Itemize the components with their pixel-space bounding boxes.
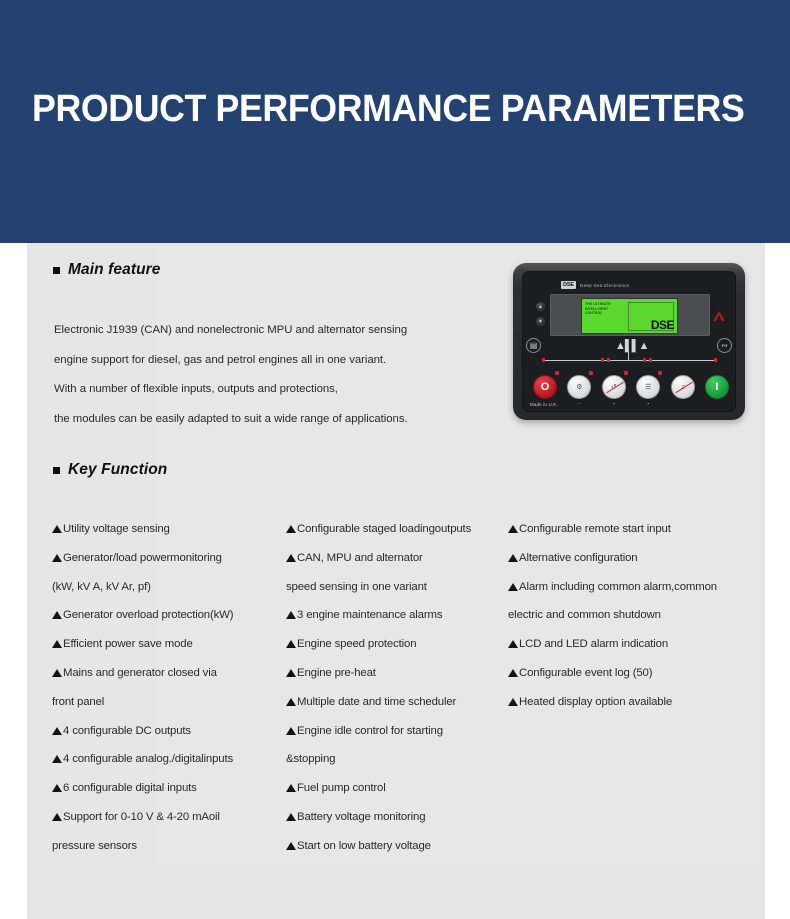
generator-icon: ∾ xyxy=(717,338,732,353)
auto-mode-button[interactable]: ↺ ▪ xyxy=(602,375,626,399)
mimic-led xyxy=(649,358,652,362)
key-function-item-label: Configurable remote start input xyxy=(519,515,671,544)
triangle-bullet-icon xyxy=(286,525,296,533)
made-in-label: Made in U.K. xyxy=(530,402,558,407)
triangle-bullet-icon xyxy=(52,554,62,562)
key-function-item-label: pressure sensors xyxy=(52,832,137,861)
triangle-bullet-icon xyxy=(286,611,296,619)
key-function-item-label: LCD and LED alarm indication xyxy=(519,630,668,659)
triangle-bullet-icon xyxy=(508,583,518,591)
key-function-item: Support for 0-10 V & 4-20 mAoil xyxy=(52,803,286,832)
start-button-glyph: I xyxy=(715,381,718,393)
key-function-item: speed sensing in one variant xyxy=(286,573,508,602)
triangle-bullet-icon xyxy=(508,698,518,706)
key-function-item-label: Efficient power save mode xyxy=(63,630,193,659)
key-function-item-label: 4 configurable analog./digitalinputs xyxy=(63,745,233,774)
nav-down-button[interactable]: ▼ xyxy=(536,317,545,326)
triangle-bullet-icon xyxy=(52,611,62,619)
key-function-item: Alternative configuration xyxy=(508,544,742,573)
triangle-bullet-icon xyxy=(286,640,296,648)
triangle-bullet-icon xyxy=(52,755,62,763)
key-function-item: front panel xyxy=(52,688,286,717)
key-function-heading: Key Function xyxy=(53,461,167,479)
triangle-bullet-icon xyxy=(52,669,62,677)
warning-triangle-icon xyxy=(713,311,725,321)
key-function-list: Utility voltage sensingGenerator/load po… xyxy=(52,515,742,861)
controller-branding: DSE Deep Sea Electronics xyxy=(561,281,629,289)
triangle-bullet-icon xyxy=(286,698,296,706)
key-function-item-label: CAN, MPU and alternator xyxy=(297,544,423,573)
main-feature-heading: Main feature xyxy=(53,261,161,279)
key-function-item: electric and common shutdown xyxy=(508,601,742,630)
triangle-bullet-icon xyxy=(286,727,296,735)
key-function-item: LCD and LED alarm indication xyxy=(508,630,742,659)
key-function-item-label: Battery voltage monitoring xyxy=(297,803,425,832)
key-function-item-label: Engine idle control for starting xyxy=(297,717,443,746)
key-function-item: Heated display option available xyxy=(508,688,742,717)
triangle-bullet-icon xyxy=(286,813,296,821)
key-function-item: 4 configurable analog./digitalinputs xyxy=(52,745,286,774)
key-function-item-label: Engine pre-heat xyxy=(297,659,376,688)
key-function-item: 3 engine maintenance alarms xyxy=(286,601,508,630)
key-function-item: Start on low battery voltage xyxy=(286,832,508,861)
triangle-bullet-icon xyxy=(286,554,296,562)
key-function-item: (kW, kV A, kV Ar, pf) xyxy=(52,573,286,602)
key-function-item: Generator/load powermonitoring xyxy=(52,544,286,573)
dse-controller-photo: DSE Deep Sea Electronics ▲ ▼ THE ULTIMAT… xyxy=(513,263,745,420)
key-function-item-label: Alternative configuration xyxy=(519,544,637,573)
key-function-item-label: Configurable event log (50) xyxy=(519,659,652,688)
lcd-bezel: THE ULTIMATE INTELLIGENT CONTROL DSE xyxy=(550,294,710,336)
key-function-item-label: Generator overload protection(kW) xyxy=(63,601,233,630)
key-function-column-1: Utility voltage sensingGenerator/load po… xyxy=(52,515,286,861)
main-feature-paragraph: Electronic J1939 (CAN) and nonelectronic… xyxy=(54,316,484,434)
status-led-icon xyxy=(555,371,559,375)
lcd-line: THE ULTIMATE xyxy=(585,302,611,307)
manual-mode-sublabel: ─ xyxy=(578,401,581,406)
key-function-item: CAN, MPU and alternator xyxy=(286,544,508,573)
mains-supply-icon: ▤ xyxy=(526,338,541,353)
key-function-item: Engine speed protection xyxy=(286,630,508,659)
stop-button[interactable]: O xyxy=(533,375,557,399)
key-function-item: &stopping xyxy=(286,745,508,774)
brand-text: Deep Sea Electronics xyxy=(580,283,629,288)
status-led-icon xyxy=(589,371,593,375)
mute-alarm-button[interactable]: ♫ xyxy=(671,375,695,399)
dse-logo-icon: DSE xyxy=(561,281,576,289)
key-function-column-3: Configurable remote start inputAlternati… xyxy=(508,515,742,861)
triangle-bullet-icon xyxy=(52,727,62,735)
key-function-item-label: Fuel pump control xyxy=(297,774,386,803)
generator-set-icon: ▲▌▌▲ xyxy=(615,340,643,354)
square-bullet-icon xyxy=(53,267,60,274)
lcd-logo-text: DSE xyxy=(651,318,674,332)
key-function-item-label: Utility voltage sensing xyxy=(63,515,170,544)
triangle-bullet-icon xyxy=(508,669,518,677)
status-led-icon xyxy=(624,371,628,375)
key-function-item: Mains and generator closed via xyxy=(52,659,286,688)
key-function-item: Utility voltage sensing xyxy=(52,515,286,544)
lcd-text-block: THE ULTIMATE INTELLIGENT CONTROL xyxy=(585,302,611,316)
triangle-bullet-icon xyxy=(508,554,518,562)
nav-up-button[interactable]: ▲ xyxy=(536,302,545,311)
key-function-item: Configurable event log (50) xyxy=(508,659,742,688)
key-function-item: Multiple date and time scheduler xyxy=(286,688,508,717)
key-function-item: pressure sensors xyxy=(52,832,286,861)
key-function-item-label: Multiple date and time scheduler xyxy=(297,688,456,717)
triangle-bullet-icon xyxy=(52,525,62,533)
triangle-bullet-icon xyxy=(52,640,62,648)
content-panel-footer xyxy=(27,864,765,919)
triangle-bullet-icon xyxy=(286,842,296,850)
feature-line: the modules can be easily adapted to sui… xyxy=(54,405,484,435)
key-function-item: 6 configurable digital inputs xyxy=(52,774,286,803)
mimic-led xyxy=(607,358,610,362)
key-function-item-label: front panel xyxy=(52,688,104,717)
key-function-item-label: Start on low battery voltage xyxy=(297,832,431,861)
key-function-item-label: Generator/load powermonitoring xyxy=(63,544,222,573)
key-function-heading-label: Key Function xyxy=(68,461,167,479)
controller-front-face: DSE Deep Sea Electronics ▲ ▼ THE ULTIMAT… xyxy=(522,271,736,412)
key-function-item-label: 3 engine maintenance alarms xyxy=(297,601,442,630)
key-function-item-label: Alarm including common alarm,common xyxy=(519,573,717,602)
key-function-item-label: Heated display option available xyxy=(519,688,672,717)
controller-housing: DSE Deep Sea Electronics ▲ ▼ THE ULTIMAT… xyxy=(513,263,745,420)
key-function-item: Configurable staged loadingoutputs xyxy=(286,515,508,544)
key-function-item: Alarm including common alarm,common xyxy=(508,573,742,602)
key-function-item-label: Mains and generator closed via xyxy=(63,659,217,688)
manual-mode-button[interactable]: ⚙ ─ xyxy=(567,375,591,399)
stop-button-glyph: O xyxy=(541,381,550,393)
triangle-bullet-icon xyxy=(286,669,296,677)
key-function-item: Generator overload protection(kW) xyxy=(52,601,286,630)
mimic-drop-line xyxy=(628,350,629,361)
lcd-display: THE ULTIMATE INTELLIGENT CONTROL DSE xyxy=(581,298,678,334)
key-function-item-label: Support for 0-10 V & 4-20 mAoil xyxy=(63,803,220,832)
key-function-item-label: 4 configurable DC outputs xyxy=(63,717,191,746)
start-button[interactable]: I xyxy=(705,375,729,399)
feature-line: Electronic J1939 (CAN) and nonelectronic… xyxy=(54,316,484,346)
test-mode-glyph: ☰ xyxy=(645,383,651,391)
triangle-bullet-icon xyxy=(508,525,518,533)
product-parameters-page: PRODUCT PERFORMANCE PARAMETERS Main feat… xyxy=(0,0,790,919)
main-feature-heading-label: Main feature xyxy=(68,261,161,279)
key-function-item-label: Engine speed protection xyxy=(297,630,416,659)
header-banner: PRODUCT PERFORMANCE PARAMETERS xyxy=(0,0,790,243)
square-bullet-icon xyxy=(53,467,60,474)
key-function-item-label: electric and common shutdown xyxy=(508,601,661,630)
key-function-item: Engine idle control for starting xyxy=(286,717,508,746)
feature-line: With a number of flexible inputs, output… xyxy=(54,375,484,405)
key-function-column-2: Configurable staged loadingoutputsCAN, M… xyxy=(286,515,508,861)
lcd-line: CONTROL xyxy=(585,311,611,316)
triangle-bullet-icon xyxy=(52,784,62,792)
key-function-item-label: speed sensing in one variant xyxy=(286,573,427,602)
key-function-item-label: (kW, kV A, kV Ar, pf) xyxy=(52,573,151,602)
mimic-led xyxy=(714,358,717,362)
mimic-led xyxy=(601,358,604,362)
key-function-item: Fuel pump control xyxy=(286,774,508,803)
key-function-item-label: &stopping xyxy=(286,745,335,774)
key-function-item: Configurable remote start input xyxy=(508,515,742,544)
key-function-item: Efficient power save mode xyxy=(52,630,286,659)
controller-button-row: O ⚙ ─ ↺ ▪ ☰ xyxy=(533,375,729,405)
key-function-item: 4 configurable DC outputs xyxy=(52,717,286,746)
status-led-icon xyxy=(658,371,662,375)
test-mode-button[interactable]: ☰ ▪ xyxy=(636,375,660,399)
key-function-item: Battery voltage monitoring xyxy=(286,803,508,832)
mimic-led xyxy=(643,358,646,362)
mimic-bus-line xyxy=(542,360,717,361)
key-function-item-label: Configurable staged loadingoutputs xyxy=(297,515,471,544)
test-mode-sublabel: ▪ xyxy=(647,401,649,406)
manual-mode-glyph: ⚙ xyxy=(576,383,582,391)
key-function-item: Engine pre-heat xyxy=(286,659,508,688)
page-title: PRODUCT PERFORMANCE PARAMETERS xyxy=(32,88,744,131)
triangle-bullet-icon xyxy=(286,784,296,792)
key-function-item-label: 6 configurable digital inputs xyxy=(63,774,197,803)
triangle-bullet-icon xyxy=(52,813,62,821)
feature-line: engine support for diesel, gas and petro… xyxy=(54,346,484,376)
triangle-bullet-icon xyxy=(508,640,518,648)
auto-mode-sublabel: ▪ xyxy=(613,401,615,406)
mimic-led xyxy=(542,358,545,362)
